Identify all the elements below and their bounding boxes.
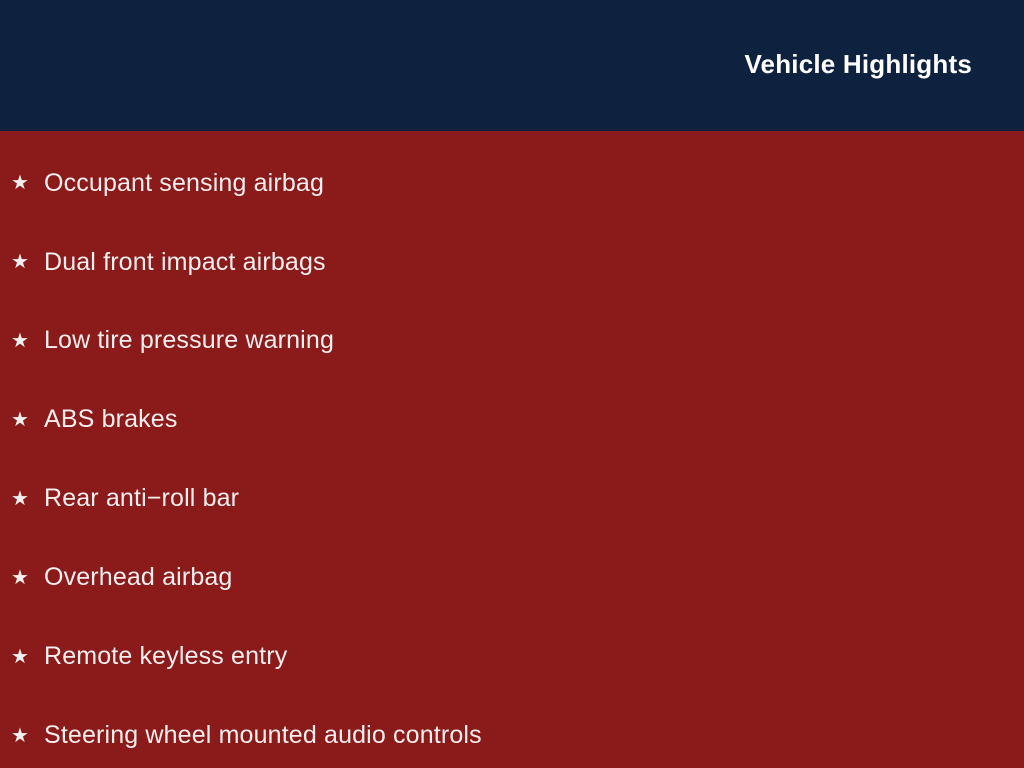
star-icon: ★ bbox=[11, 568, 44, 588]
page-title: Vehicle Highlights bbox=[744, 51, 972, 77]
list-item-label: Low tire pressure warning bbox=[44, 327, 334, 355]
star-icon: ★ bbox=[11, 647, 44, 667]
star-icon: ★ bbox=[11, 173, 44, 193]
list-item: ★ Low tire pressure warning bbox=[0, 302, 1024, 381]
list-item-label: ABS brakes bbox=[44, 406, 178, 434]
list-item-label: Rear anti−roll bar bbox=[44, 485, 239, 513]
star-icon: ★ bbox=[11, 726, 44, 746]
slide-body: ★ Occupant sensing airbag ★ Dual front i… bbox=[0, 131, 1024, 768]
list-item: ★ Occupant sensing airbag bbox=[0, 144, 1024, 223]
star-icon: ★ bbox=[11, 331, 44, 351]
list-item: ★ Remote keyless entry bbox=[0, 617, 1024, 696]
slide-header: Vehicle Highlights bbox=[0, 0, 1024, 131]
vehicle-highlights-slide: Vehicle Highlights ★ Occupant sensing ai… bbox=[0, 0, 1024, 768]
star-icon: ★ bbox=[11, 489, 44, 509]
list-item: ★ ABS brakes bbox=[0, 381, 1024, 460]
list-item: ★ Steering wheel mounted audio controls bbox=[0, 696, 1024, 768]
list-item: ★ Overhead airbag bbox=[0, 538, 1024, 617]
star-icon: ★ bbox=[11, 410, 44, 430]
list-item-label: Steering wheel mounted audio controls bbox=[44, 722, 482, 750]
list-item-label: Overhead airbag bbox=[44, 564, 232, 592]
list-item: ★ Dual front impact airbags bbox=[0, 223, 1024, 302]
vehicle-feature-list: ★ Occupant sensing airbag ★ Dual front i… bbox=[0, 144, 1024, 768]
list-item-label: Dual front impact airbags bbox=[44, 249, 326, 277]
list-item-label: Remote keyless entry bbox=[44, 643, 287, 671]
star-icon: ★ bbox=[11, 252, 44, 272]
list-item: ★ Rear anti−roll bar bbox=[0, 460, 1024, 539]
list-item-label: Occupant sensing airbag bbox=[44, 170, 324, 198]
